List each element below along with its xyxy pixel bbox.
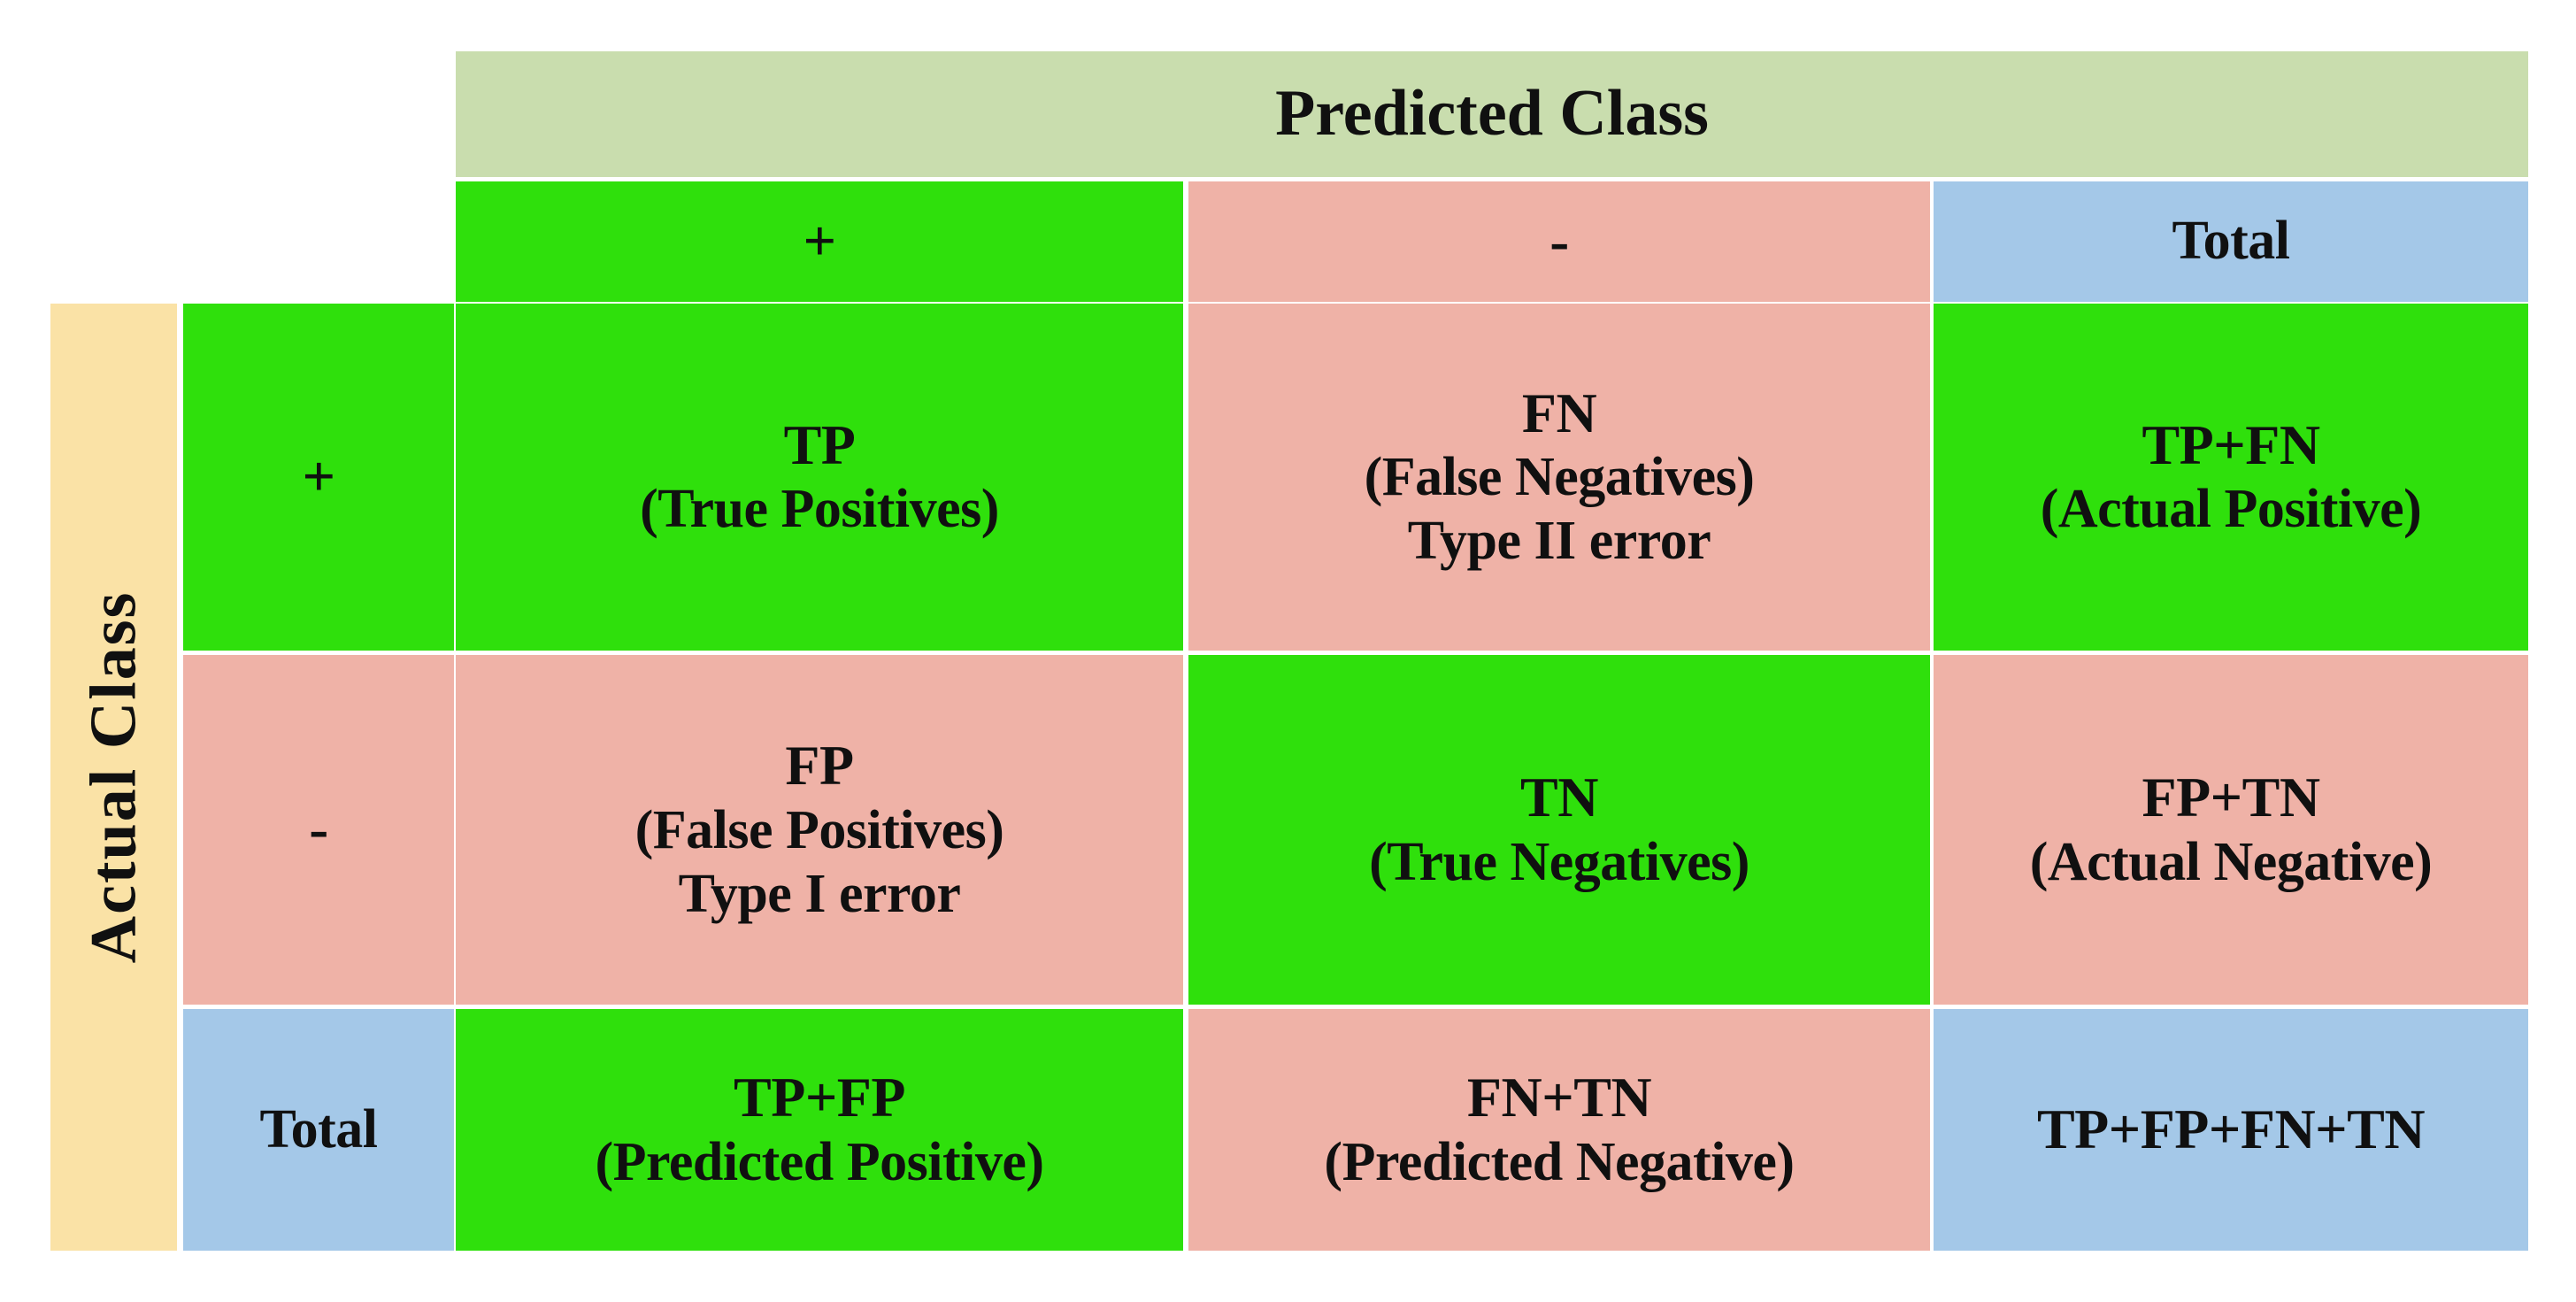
cell-expansion: (Actual Negative) (2030, 831, 2433, 895)
cell-abbr: TP+FN (2142, 412, 2319, 478)
cell-abbr: TP+FP (734, 1065, 905, 1130)
cell-expansion: (True Positives) (640, 478, 999, 542)
cell-predicted-negative-total: FN+TN (Predicted Negative) (1188, 1009, 1930, 1251)
cell-true-positive: TP (True Positives) (456, 304, 1183, 651)
cell-true-negative: TN (True Negatives) (1188, 655, 1930, 1005)
cell-abbr: TN (1520, 765, 1598, 830)
cell-abbr: TP (784, 412, 856, 478)
cell-abbr: FP+TN (2142, 765, 2319, 830)
column-header-positive: + (456, 181, 1183, 302)
column-header-total: Total (1934, 181, 2528, 302)
row-header-total: Total (183, 1009, 454, 1251)
cell-note: Type I error (679, 863, 961, 927)
actual-class-axis-band: Actual Class (50, 304, 177, 1251)
cell-predicted-positive-total: TP+FP (Predicted Positive) (456, 1009, 1183, 1251)
cell-grand-total: TP+FP+FN+TN (1934, 1009, 2528, 1251)
cell-expansion: (True Negatives) (1369, 831, 1749, 895)
row-header-positive: + (183, 304, 454, 651)
cell-abbr: TP+FP+FN+TN (2037, 1097, 2425, 1162)
cell-abbr: FP (785, 733, 853, 798)
actual-class-axis-label: Actual Class (76, 591, 151, 964)
cell-expansion: (False Negatives) (1365, 446, 1755, 510)
cell-abbr: FN (1522, 381, 1596, 446)
cell-abbr: FN+TN (1467, 1065, 1651, 1130)
row-header-negative: - (183, 655, 454, 1005)
confusion-matrix-diagram: Actual Class Predicted Class + - Total +… (0, 0, 2576, 1302)
cell-expansion: (Actual Positive) (2041, 478, 2422, 542)
cell-false-positive: FP (False Positives) Type I error (456, 655, 1183, 1005)
cell-expansion: (Predicted Negative) (1324, 1131, 1794, 1195)
cell-false-negative: FN (False Negatives) Type II error (1188, 304, 1930, 651)
column-header-negative: - (1188, 181, 1930, 302)
cell-actual-negative-total: FP+TN (Actual Negative) (1934, 655, 2528, 1005)
cell-expansion: (False Positives) (635, 799, 1004, 863)
cell-actual-positive-total: TP+FN (Actual Positive) (1934, 304, 2528, 651)
predicted-class-axis-label: Predicted Class (456, 51, 2528, 177)
cell-note: Type II error (1408, 510, 1711, 574)
cell-expansion: (Predicted Positive) (595, 1131, 1043, 1195)
